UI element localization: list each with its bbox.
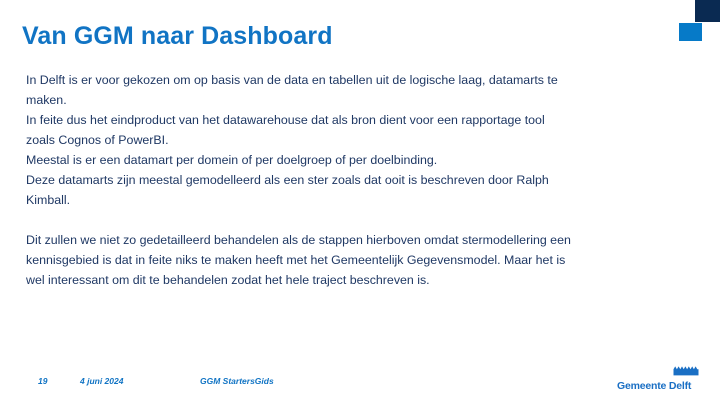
paragraph: In Delft is er voor gekozen om op basis … bbox=[26, 70, 694, 210]
body-line: In feite dus het eindproduct van het dat… bbox=[26, 110, 694, 130]
slide: Van GGM naar Dashboard In Delft is er vo… bbox=[0, 0, 720, 405]
slide-footer: 19 4 juni 2024 GGM StartersGids bbox=[0, 374, 720, 394]
delft-crown-icon bbox=[673, 366, 699, 376]
logo-wordmark: Gemeente Delft bbox=[617, 380, 691, 392]
body-line: kennisgebied is dat in feite niks te mak… bbox=[26, 250, 694, 270]
body-line: Kimball. bbox=[26, 190, 694, 210]
corner-square-blue-icon bbox=[679, 23, 702, 41]
footer-deck-name: GGM StartersGids bbox=[200, 376, 274, 386]
paragraph: Dit zullen we niet zo gedetailleerd beha… bbox=[26, 230, 694, 290]
gemeente-delft-logo: Gemeente Delft bbox=[617, 366, 703, 392]
body-line: In Delft is er voor gekozen om op basis … bbox=[26, 70, 694, 90]
page-title: Van GGM naar Dashboard bbox=[22, 22, 333, 51]
body-line: Dit zullen we niet zo gedetailleerd beha… bbox=[26, 230, 694, 250]
body-line: Meestal is er een datamart per domein of… bbox=[26, 150, 694, 170]
body-line: wel interessant om dit te behandelen zod… bbox=[26, 270, 694, 290]
slide-body: In Delft is er voor gekozen om op basis … bbox=[26, 70, 694, 290]
footer-page-number: 19 bbox=[38, 376, 47, 386]
footer-date: 4 juni 2024 bbox=[80, 376, 123, 386]
body-line: maken. bbox=[26, 90, 694, 110]
corner-square-dark-icon bbox=[695, 0, 720, 22]
body-line: zoals Cognos of PowerBI. bbox=[26, 130, 694, 150]
body-line: Deze datamarts zijn meestal gemodelleerd… bbox=[26, 170, 694, 190]
